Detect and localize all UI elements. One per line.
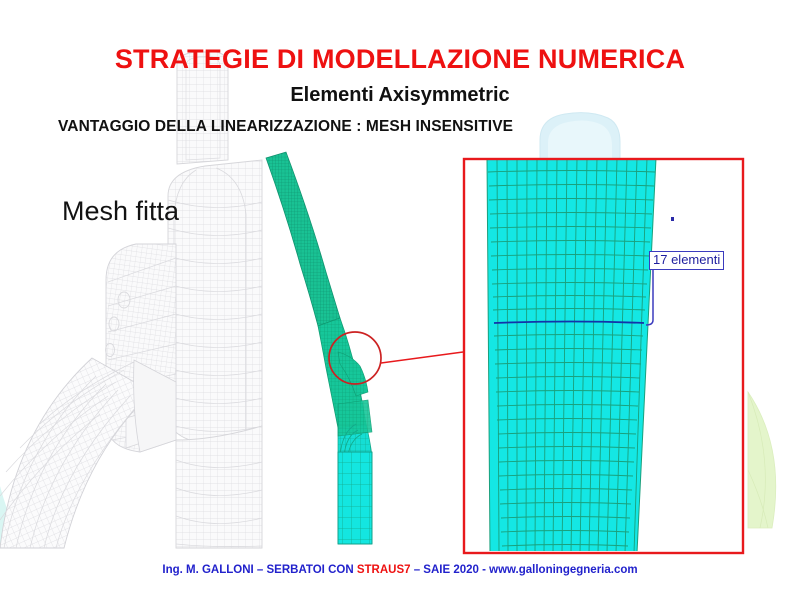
page-title: STRATEGIE DI MODELLAZIONE NUMERICA — [0, 44, 800, 75]
callout-17-elementi: 17 elementi — [649, 251, 724, 270]
page-subtitle: Elementi Axisymmetric — [0, 84, 800, 107]
page-note: VANTAGGIO DELLA LINEARIZZAZIONE : MESH I… — [58, 118, 513, 136]
footer-highlight: STRAUS7 — [357, 564, 411, 576]
footer-credit: Ing. M. GALLONI – SERBATOI CON STRAUS7 –… — [0, 564, 800, 576]
footer-text-before: Ing. M. GALLONI – SERBATOI CON — [162, 564, 356, 576]
footer-text-after: – SAIE 2020 - www.galloningegneria.com — [411, 564, 638, 576]
callout-leader-line — [646, 266, 653, 325]
blue-dot-marker — [671, 217, 674, 221]
slide-canvas: STRATEGIE DI MODELLAZIONE NUMERICA Eleme… — [0, 0, 800, 600]
mesh-fitta-label: Mesh fitta — [62, 196, 179, 227]
